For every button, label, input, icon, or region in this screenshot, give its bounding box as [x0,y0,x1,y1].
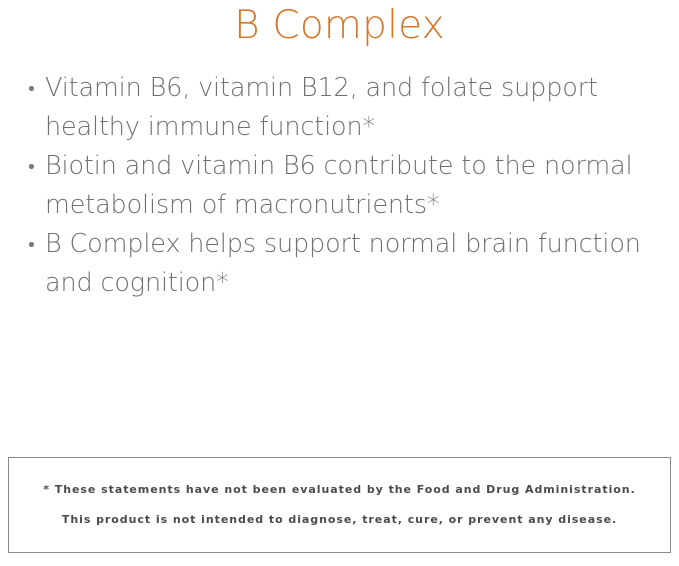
list-item: Vitamin B6, vitamin B12, and folate supp… [26,69,662,147]
disclaimer-line-1: * These statements have not been evaluat… [43,475,635,505]
disclaimer-box: * These statements have not been evaluat… [8,457,671,553]
bullet-dot-icon [29,242,34,247]
benefits-list: Vitamin B6, vitamin B12, and folate supp… [26,69,662,303]
disclaimer-content: * These statements have not been evaluat… [9,458,670,552]
list-item-label: Biotin and vitamin B6 contribute to the … [45,151,632,220]
list-item: B Complex helps support normal brain fun… [26,225,662,303]
page-title: B Complex [0,0,679,52]
list-item-label: Vitamin B6, vitamin B12, and folate supp… [45,73,598,142]
list-item-label: B Complex helps support normal brain fun… [45,229,641,298]
disclaimer-line-2: This product is not intended to diagnose… [62,505,617,535]
bullet-dot-icon [29,164,34,169]
product-info-panel: B Complex Vitamin B6, vitamin B12, and f… [0,0,679,566]
bullet-dot-icon [29,86,34,91]
list-item: Biotin and vitamin B6 contribute to the … [26,147,662,225]
